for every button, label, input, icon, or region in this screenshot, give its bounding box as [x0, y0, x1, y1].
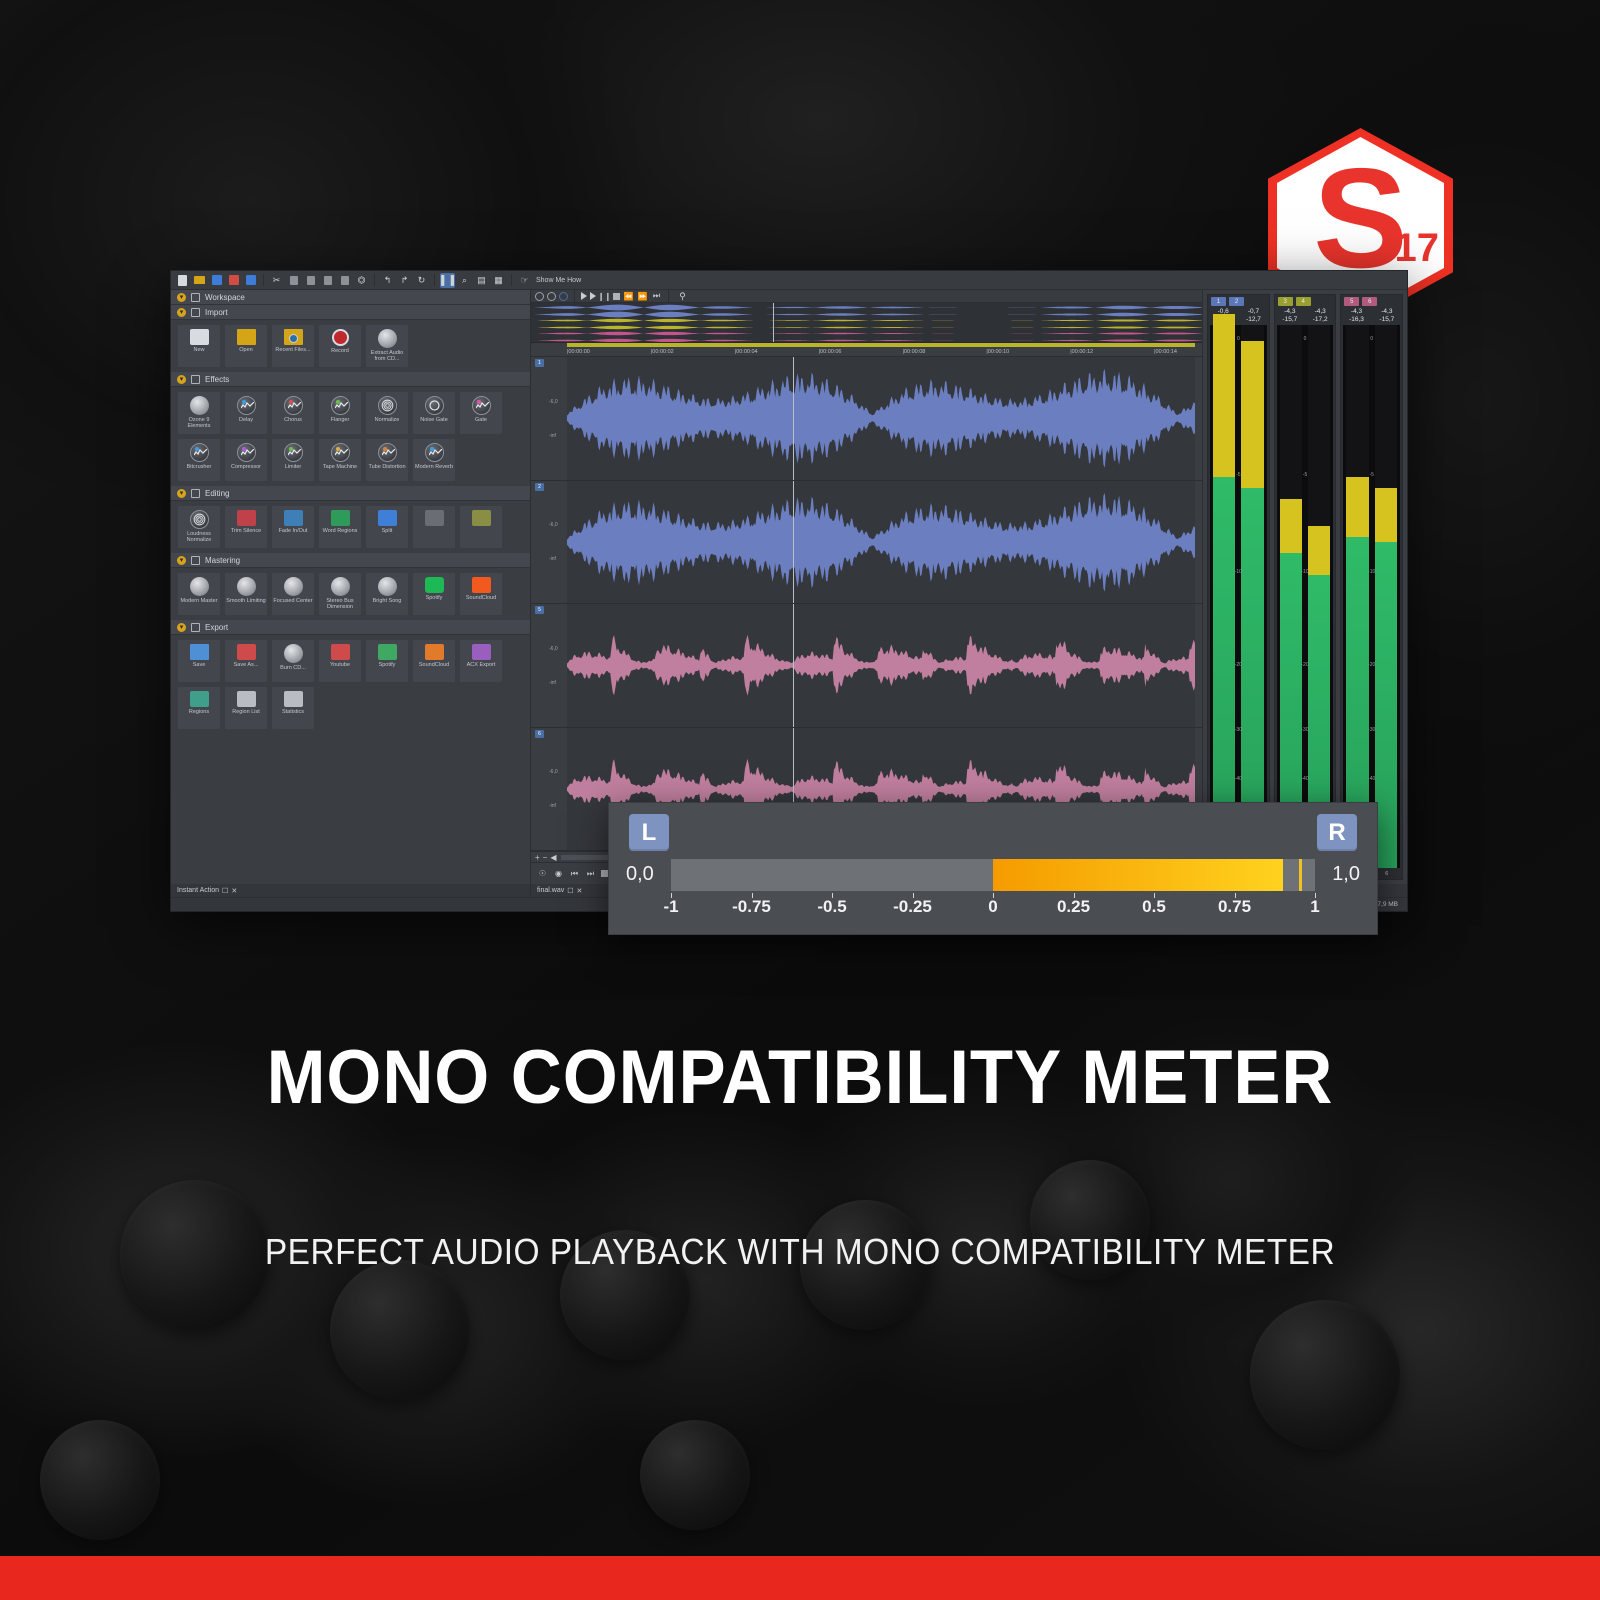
tile-loudness-normalize[interactable]: Loudness Normalize: [177, 505, 221, 549]
tile-stereo-bus-dimension[interactable]: Stereo Bus Dimension: [318, 572, 362, 616]
play-selection-icon[interactable]: [590, 292, 596, 300]
meter-group-1-2[interactable]: 12 -0,6-0,7 -13,9-12,7 0-5-10-20-30-40-5…: [1207, 294, 1270, 880]
chevron-down-icon[interactable]: ▾: [177, 623, 186, 632]
lane-number: 6: [535, 730, 544, 738]
tile-chorus[interactable]: Chorus: [271, 391, 315, 435]
meter-bar-6: [1375, 325, 1397, 868]
tile-label: Modern Reverb: [413, 464, 455, 470]
mono-axis-label: -0.5: [817, 897, 846, 917]
import-tiles: New Open Recent Files... Record: [171, 320, 530, 372]
show-me-how-icon[interactable]: ☞: [517, 273, 532, 288]
normalize-icon: [378, 396, 397, 415]
waveform-lane-2[interactable]: 2 -6,0 -inf: [531, 481, 1202, 605]
tile-acx-export[interactable]: ACX Export: [459, 639, 503, 683]
tile-label: New: [178, 347, 220, 353]
regions-icon: [190, 691, 209, 707]
tile-label: Smooth Limiting: [225, 598, 267, 604]
editor-transport-toolbar[interactable]: ❙❙ ⏪ ⏩ ⏭ ⚲: [531, 290, 1202, 303]
tile-label: Save As...: [225, 662, 267, 668]
meter-peak-value: -4,3: [1351, 308, 1362, 315]
region-list-icon: [237, 691, 256, 707]
open-folder-icon[interactable]: [192, 273, 207, 288]
compressor-icon: [237, 443, 256, 462]
acx-export-icon: [472, 644, 491, 660]
meter-group-3-4[interactable]: 34 -4,3-4,3 -15,7-17,2 0-5-10-20-30-40-5…: [1274, 294, 1337, 880]
delay-icon: [237, 396, 256, 415]
ruler-tick: |00:00:06: [819, 349, 842, 355]
sidebar-section-workspace[interactable]: ▾ Workspace: [171, 290, 530, 305]
tile-delay[interactable]: Delay: [224, 391, 268, 435]
chevron-down-icon[interactable]: ▾: [177, 556, 186, 565]
meter-rms-value: -12,7: [1246, 316, 1261, 323]
stop-icon[interactable]: [613, 293, 620, 300]
tile-ozone-9-elements[interactable]: Ozone 9 Elements: [177, 391, 221, 435]
tile-compressor[interactable]: Compressor: [224, 438, 268, 482]
timeline-ruler[interactable]: |00:00:00|00:00:02|00:00:04|00:00:06|00:…: [531, 343, 1202, 357]
toolbar-divider: [263, 274, 264, 286]
tile-label: Chorus: [272, 417, 314, 423]
tile-label: Bright Song: [366, 598, 408, 604]
sidebar-section-editing[interactable]: ▾ Editing: [171, 486, 530, 501]
tile-statistics[interactable]: Statistics: [271, 686, 315, 730]
mastering-tiles: Modern MasterSmooth LimitingFocused Cent…: [171, 568, 530, 620]
ruler-tick: |00:00:04: [735, 349, 758, 355]
tile-soundcloud[interactable]: SoundCloud: [412, 639, 456, 683]
lane-db-label: -inf: [549, 680, 556, 686]
close-icon[interactable]: ✕: [577, 887, 583, 895]
zoom-in-icon[interactable]: +: [535, 853, 540, 862]
ozone-icon: [190, 396, 209, 415]
tile-save[interactable]: Save: [177, 639, 221, 683]
ruler-tick: |00:00:14: [1154, 349, 1177, 355]
tile-recent-files[interactable]: Recent Files...: [271, 324, 315, 368]
cursor-icon[interactable]: ⚲: [675, 289, 690, 304]
instant-action-sidebar[interactable]: ▾ Workspace ▾ Import New Open: [171, 290, 531, 897]
tile-trim-silence[interactable]: Trim Silence: [224, 505, 268, 549]
tile-tape-machine[interactable]: Tape Machine: [318, 438, 362, 482]
soundcloud-icon: [472, 577, 491, 593]
meter-scale-label: -5: [1236, 472, 1240, 478]
ruler-tick: |00:00:10: [986, 349, 1009, 355]
tile-burn-cd[interactable]: Burn CD...: [271, 639, 315, 683]
tile-label: Limiter: [272, 464, 314, 470]
workspace-icon: [191, 293, 200, 302]
modern-reverb-icon: [425, 443, 444, 462]
mono-axis: -1-0.75-0.5-0.2500.250.50.751: [671, 893, 1315, 919]
delete-icon[interactable]: [337, 273, 352, 288]
instant-action-tab-label: Instant Action: [177, 887, 219, 894]
lane-db-label: -6,0: [549, 646, 558, 652]
go-to-end-icon[interactable]: ⏭: [651, 291, 662, 302]
export-tiles: SaveSave As...Burn CD...YoutubeSpotifySo…: [171, 635, 530, 734]
tile-label: Regions: [178, 709, 220, 715]
meter-groups: 12 -0,6-0,7 -13,9-12,7 0-5-10-20-30-40-5…: [1203, 290, 1407, 884]
new-file-icon[interactable]: [175, 273, 190, 288]
tile-eq-icon[interactable]: [412, 505, 456, 549]
lane-db-label: -6,0: [549, 399, 558, 405]
promo-headline-block: MONO COMPATIBILITY METER PERFECT AUDIO P…: [0, 1040, 1600, 1273]
crop-icon[interactable]: ⏣: [354, 273, 369, 288]
tile-save-as[interactable]: Save As...: [224, 639, 268, 683]
mono-left-value: 0,0: [626, 863, 654, 886]
sidebar-section-label: Mastering: [205, 556, 240, 565]
split-icon: [378, 510, 397, 526]
tile-label: Flanger: [319, 417, 361, 423]
refresh-icon[interactable]: ↻: [414, 273, 429, 288]
toolbar-divider: [374, 274, 375, 286]
effects-tiles: Ozone 9 Elements Delay Chorus Flanger No…: [171, 387, 530, 486]
sound-forge-window[interactable]: ✂ ⏣ ↰ ↱ ↻ ▌▐ ⌕ ▤ ▦ ☞ Show Me How ▾ Works…: [170, 270, 1408, 912]
sidebar-section-effects[interactable]: ▾ Effects: [171, 372, 530, 387]
lane-waveform[interactable]: [567, 357, 1195, 480]
copy-icon[interactable]: [286, 273, 301, 288]
lane-header[interactable]: 6 -6,0 -inf: [531, 728, 567, 851]
undo-icon[interactable]: ↰: [380, 273, 395, 288]
left-channel-button[interactable]: L: [629, 814, 669, 851]
mono-axis-label: 0.5: [1142, 897, 1166, 917]
tile-label: Save: [178, 662, 220, 668]
save-as-icon: [237, 644, 256, 660]
meter-scale-label: -5: [1303, 472, 1307, 478]
stereo-view-icon[interactable]: ▌▐: [440, 273, 455, 288]
tape-machine-icon: [331, 443, 350, 462]
go-to-start-icon[interactable]: ⏮: [569, 868, 580, 879]
lane-header[interactable]: 2 -6,0 -inf: [531, 481, 567, 604]
meter-peak-value: -4,3: [1284, 308, 1295, 315]
meter-rms-values: -16,3-15,7: [1341, 316, 1402, 325]
meter-channel-chip: 2: [1229, 297, 1244, 306]
import-icon: [191, 308, 200, 317]
tile-label: Split: [366, 528, 408, 534]
toolbar-divider: [574, 290, 575, 302]
tile-label: Focused Center: [272, 598, 314, 604]
meter-peak-value: -0,7: [1248, 308, 1259, 315]
tile-label: Ozone 9 Elements: [178, 417, 220, 429]
editing-tiles: Loudness NormalizeTrim SilenceFade In/Ou…: [171, 501, 530, 553]
mono-axis-label: -0.75: [732, 897, 771, 917]
page-subtitle: PERFECT AUDIO PLAYBACK WITH MONO COMPATI…: [56, 1231, 1544, 1273]
tile-label: Record: [319, 348, 361, 354]
tile-label: Spotify: [413, 595, 455, 601]
lane-header[interactable]: 5 -6,0 -inf: [531, 604, 567, 727]
meter-channel-chip: 1: [1211, 297, 1226, 306]
mono-compatibility-meter[interactable]: L R 0,0 1,0 -1-0.75-0.5-0.2500.250.50.75…: [608, 802, 1378, 935]
mono-right-value: 1,0: [1332, 863, 1360, 886]
tile-flanger[interactable]: Flanger: [318, 391, 362, 435]
mono-axis-label: 0.75: [1218, 897, 1251, 917]
rewind-icon[interactable]: ⏪: [623, 291, 634, 302]
record-icon[interactable]: ◉: [553, 868, 564, 879]
record-icon: [332, 329, 349, 346]
tile-label: Trim Silence: [225, 528, 267, 534]
lane-db-label: -inf: [549, 556, 556, 562]
youtube-icon: [331, 644, 350, 660]
tile-label: Fade In/Out: [272, 528, 314, 534]
mono-bar-peak-marker: [1299, 859, 1302, 891]
chorus-icon: [284, 396, 303, 415]
ruler-tick: |00:00:00: [567, 349, 590, 355]
zoom-out-icon[interactable]: −: [543, 853, 548, 862]
tile-new[interactable]: New: [177, 324, 221, 368]
tile-label: Word Regions: [319, 528, 361, 534]
mono-correlation-bar[interactable]: [671, 859, 1315, 891]
tile-label: Noise Gate: [413, 417, 455, 423]
scroll-left-arrow[interactable]: ◀: [550, 853, 556, 862]
record-icon[interactable]: [547, 292, 556, 301]
meter-bar-2: [1241, 325, 1263, 868]
noise-gate-icon: [425, 396, 444, 415]
mono-axis-label: 1: [1310, 897, 1319, 917]
meter-bar-4: [1308, 325, 1330, 868]
tile-region-list[interactable]: Region List: [224, 686, 268, 730]
tile-open[interactable]: Open: [224, 324, 268, 368]
lane-header[interactable]: 1 -6,0 -inf: [531, 357, 567, 480]
mono-axis-label: 0.25: [1057, 897, 1090, 917]
meter-scale: 0-5-10-20-30-40-50-70: [1343, 325, 1400, 868]
redo-icon[interactable]: ↱: [397, 273, 412, 288]
restore-icon[interactable]: ☐: [222, 887, 228, 895]
meter-rms-values: -15,7-17,2: [1275, 316, 1336, 325]
chevron-down-icon[interactable]: ▾: [177, 308, 186, 317]
sidebar-section-label: Effects: [205, 375, 229, 384]
stop-icon[interactable]: [601, 870, 608, 877]
flanger-icon: [331, 396, 350, 415]
save-icon[interactable]: [209, 273, 224, 288]
sidebar-section-mastering[interactable]: ▾ Mastering: [171, 553, 530, 568]
meter-scale: 0-5-10-20-30-40-50-70: [1277, 325, 1334, 868]
tile-label: Region List: [225, 709, 267, 715]
tile-label: Bitcrusher: [178, 464, 220, 470]
tile-label: Tape Machine: [319, 464, 361, 470]
export-icon: [191, 623, 200, 632]
tile-label: Gate: [460, 417, 502, 423]
soundcloud-export-icon: [425, 644, 444, 660]
meter-scale: 0-5-10-20-30-40-50-70: [1210, 325, 1267, 868]
right-channel-button[interactable]: R: [1317, 814, 1357, 851]
save-icon: [190, 644, 209, 660]
ruler-tick: |00:00:08: [903, 349, 926, 355]
tile-label: Stereo Bus Dimension: [319, 598, 361, 610]
meter-channel-chips: 12: [1208, 295, 1269, 307]
save-all-icon[interactable]: [243, 273, 258, 288]
lane-db-label: -6,0: [549, 769, 558, 775]
modern-master-icon: [190, 577, 209, 596]
page-title: MONO COMPATIBILITY METER: [56, 1040, 1544, 1116]
toolbar-divider: [668, 290, 669, 302]
meter-bar-3: [1280, 325, 1302, 868]
sidebar-section-export[interactable]: ▾ Export: [171, 620, 530, 635]
chevron-down-icon[interactable]: ▾: [177, 293, 186, 302]
badge-version: 17: [1395, 226, 1440, 271]
fast-forward-icon[interactable]: ⏩: [637, 291, 648, 302]
burn-cd-icon: [284, 644, 303, 663]
zoom-selection-icon[interactable]: ⌕: [457, 273, 472, 288]
sidebar-section-import[interactable]: ▾ Import: [171, 305, 530, 320]
lane-waveform[interactable]: [567, 481, 1195, 604]
record-settings-icon[interactable]: [535, 292, 544, 301]
spotify-export-icon: [378, 644, 397, 660]
lane-number: 2: [535, 483, 544, 491]
ruler-selection-band: [567, 343, 1195, 347]
fade-in-out-icon: [284, 510, 303, 526]
recent-files-icon: [284, 329, 303, 345]
tube-distortion-icon: [378, 443, 397, 462]
bright-song-icon: [378, 577, 397, 596]
tile-label: Tube Distortion: [366, 464, 408, 470]
tile-spotify[interactable]: Spotify: [365, 639, 409, 683]
mono-axis-label: -1: [663, 897, 678, 917]
meter-channel-chip: 6: [1362, 297, 1377, 306]
overview-strip[interactable]: [531, 303, 1202, 343]
tile-label: Normalize: [366, 417, 408, 423]
zoom-out-icon[interactable]: ▤: [474, 273, 489, 288]
paste-icon[interactable]: [303, 273, 318, 288]
toolbar-divider: [511, 274, 512, 286]
tile-label: Statistics: [272, 709, 314, 715]
meter-rms-value: -15,7: [1282, 316, 1297, 323]
tile-bright-song[interactable]: Bright Song: [365, 572, 409, 616]
tile-spotify[interactable]: Spotify: [412, 572, 456, 616]
meter-rms-value: -15,7: [1379, 316, 1394, 323]
main-toolbar[interactable]: ✂ ⏣ ↰ ↱ ↻ ▌▐ ⌕ ▤ ▦ ☞ Show Me How: [171, 271, 1407, 290]
gate-icon: [472, 396, 491, 415]
paste-special-icon[interactable]: [320, 273, 335, 288]
smooth-limiting-icon: [237, 577, 256, 596]
open-folder-icon: [237, 329, 256, 345]
stereo-bus-dimension-icon: [331, 577, 350, 596]
tile-noise-gate[interactable]: Noise Gate: [412, 391, 456, 435]
toolbar-divider: [434, 274, 435, 286]
waveform-lane-5[interactable]: 5 -6,0 -inf: [531, 604, 1202, 728]
meter-channel-chip: 5: [1344, 297, 1359, 306]
tile-label: Modern Master: [178, 598, 220, 604]
tile-label: Youtube: [319, 662, 361, 668]
tile-regions[interactable]: Regions: [177, 686, 221, 730]
tile-word-regions[interactable]: Word Regions: [318, 505, 362, 549]
extract-cd-icon: [378, 329, 397, 348]
eq-icon: [425, 510, 444, 526]
overview-playhead: [773, 303, 774, 342]
tile-label: Spotify: [366, 662, 408, 668]
tile-modern-reverb[interactable]: Modern Reverb: [412, 438, 456, 482]
marker-check-icon: [472, 510, 491, 526]
word-regions-icon: [331, 510, 350, 526]
meter-peak-value: -4,3: [1381, 308, 1392, 315]
bitcrusher-icon: [190, 443, 209, 462]
meter-scale-label: 0: [1370, 336, 1373, 342]
trim-silence-icon: [237, 510, 256, 526]
meter-bar-5: [1346, 325, 1368, 868]
tile-gate[interactable]: Gate: [459, 391, 503, 435]
tile-label: SoundCloud: [460, 595, 502, 601]
cut-icon[interactable]: ✂: [269, 273, 284, 288]
mono-bar-fill: [993, 859, 1283, 891]
tile-normalize[interactable]: Normalize: [365, 391, 409, 435]
meter-channel-chips: 34: [1275, 295, 1336, 307]
tile-youtube[interactable]: Youtube: [318, 639, 362, 683]
tile-marker-check-icon[interactable]: [459, 505, 503, 549]
meter-peak-value: -4,3: [1315, 308, 1326, 315]
ruler-tick: |00:00:12: [1070, 349, 1093, 355]
pause-icon[interactable]: ❙❙: [599, 291, 610, 302]
lane-db-label: -inf: [549, 803, 556, 809]
editing-icon: [191, 489, 200, 498]
tile-tube-distortion[interactable]: Tube Distortion: [365, 438, 409, 482]
chevron-down-icon[interactable]: ▾: [177, 489, 186, 498]
new-document-icon: [190, 329, 209, 345]
tile-label: Compressor: [225, 464, 267, 470]
save-as-icon[interactable]: [226, 273, 241, 288]
tile-label: Burn CD...: [272, 665, 314, 671]
mono-axis-label: 0: [988, 897, 997, 917]
meter-footer-number: 6: [1385, 871, 1388, 877]
tile-soundcloud[interactable]: SoundCloud: [459, 572, 503, 616]
tile-label: Recent Files...: [272, 347, 314, 353]
lane-db-label: -inf: [549, 433, 556, 439]
meter-group-5-6[interactable]: 56 -4,3-4,3 -16,3-15,7 0-5-10-20-30-40-5…: [1340, 294, 1403, 880]
sidebar-section-label: Editing: [205, 489, 229, 498]
tile-focused-center[interactable]: Focused Center: [271, 572, 315, 616]
sidebar-section-label: Workspace: [205, 293, 245, 302]
tile-label: ACX Export: [460, 662, 502, 668]
go-to-end-icon[interactable]: ⏭: [585, 868, 596, 879]
meter-channel-chips: 56: [1341, 295, 1402, 307]
limiter-icon: [284, 443, 303, 462]
mono-axis-label: -0.25: [893, 897, 932, 917]
waveform-lanes[interactable]: 1 -6,0 -inf 2 -6,0 -inf 5 -6,0 -inf: [531, 357, 1202, 851]
loudness-normalize-icon: [190, 510, 209, 529]
tile-split[interactable]: Split: [365, 505, 409, 549]
meter-peak-values: -4,3-4,3: [1275, 307, 1336, 316]
tile-label: Delay: [225, 417, 267, 423]
tile-label: Loudness Normalize: [178, 531, 220, 543]
waveform-lane-1[interactable]: 1 -6,0 -inf: [531, 357, 1202, 481]
instant-action-tab[interactable]: Instant Action ☐ ✕: [171, 884, 530, 897]
tile-extract-audio-from-cd[interactable]: Extract Audio from CD...: [365, 324, 409, 368]
chevron-down-icon[interactable]: ▾: [177, 375, 186, 384]
meter-channel-chip: 3: [1278, 297, 1293, 306]
lane-waveform[interactable]: [567, 604, 1195, 727]
record-settings-icon[interactable]: ☉: [537, 868, 548, 879]
close-icon[interactable]: ✕: [231, 887, 237, 895]
tile-smooth-limiting[interactable]: Smooth Limiting: [224, 572, 268, 616]
tile-label: Extract Audio from CD...: [366, 350, 408, 362]
tile-label: Open: [225, 347, 267, 353]
mastering-icon: [191, 556, 200, 565]
restore-icon[interactable]: ☐: [567, 887, 573, 895]
spotify-icon: [425, 577, 444, 593]
play-icon[interactable]: [581, 292, 587, 300]
loop-icon[interactable]: [559, 292, 568, 301]
meter-scale-label: 0: [1304, 336, 1307, 342]
meter-scale-label: -5: [1369, 472, 1373, 478]
statistics-icon: [284, 691, 303, 707]
zoom-in-icon[interactable]: ▦: [491, 273, 506, 288]
lane-number: 1: [535, 359, 544, 367]
meter-bar-1: [1213, 325, 1235, 868]
meter-channel-chip: 4: [1296, 297, 1311, 306]
tile-modern-master[interactable]: Modern Master: [177, 572, 221, 616]
tile-record[interactable]: Record: [318, 324, 362, 368]
effects-icon: [191, 375, 200, 384]
tile-bitcrusher[interactable]: Bitcrusher: [177, 438, 221, 482]
focused-center-icon: [284, 577, 303, 596]
tile-fade-in-out[interactable]: Fade In/Out: [271, 505, 315, 549]
tile-limiter[interactable]: Limiter: [271, 438, 315, 482]
show-me-how-label[interactable]: Show Me How: [536, 277, 581, 284]
file-tab-label: final.wav: [537, 887, 564, 894]
footer-accent-bar: [0, 1556, 1600, 1600]
